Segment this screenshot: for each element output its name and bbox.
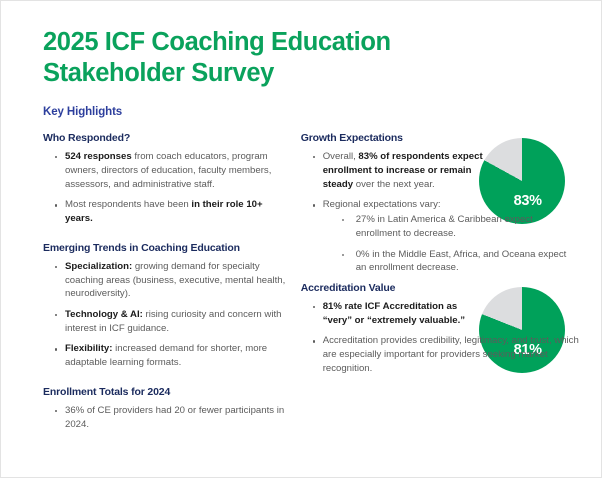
- bullet-text: Overall,: [323, 151, 359, 162]
- sub-bullet-text: 27% in Latin America & Caribbean expect …: [356, 214, 533, 239]
- left-column: Who Responded? 524 responses from coach …: [43, 132, 301, 438]
- section-heading-emerging-trends: Emerging Trends in Coaching Education: [43, 242, 289, 254]
- section-accreditation-value: 81% Accreditation Value 81% rate ICF Acc…: [301, 282, 579, 376]
- list-item: Accreditation provides credibility, legi…: [312, 334, 579, 375]
- bullet-list-enrollment-totals: 36% of CE providers had 20 or fewer part…: [43, 404, 289, 431]
- page-title-line-2: Stakeholder Survey: [43, 58, 561, 89]
- list-item: Overall, 83% of respondents expect enrol…: [312, 150, 484, 191]
- bullet-bold-lead: Specialization:: [65, 261, 132, 272]
- bullet-text: Accreditation provides credibility, legi…: [323, 335, 579, 373]
- sub-bullet-list-regional: 27% in Latin America & Caribbean expect …: [323, 213, 579, 275]
- section-emerging-trends: Emerging Trends in Coaching Education Sp…: [43, 242, 289, 370]
- section-heading-who-responded: Who Responded?: [43, 132, 289, 144]
- section-enrollment-totals: Enrollment Totals for 2024 36% of CE pro…: [43, 386, 289, 431]
- list-item: Technology & AI: rising curiosity and co…: [54, 308, 289, 335]
- bullet-bold-lead: Flexibility:: [65, 343, 112, 354]
- right-column: 83% Growth Expectations Overall, 83% of …: [301, 132, 579, 438]
- list-item: 81% rate ICF Accreditation as “very” or …: [312, 300, 484, 327]
- section-growth-expectations: 83% Growth Expectations Overall, 83% of …: [301, 132, 579, 275]
- bullet-bold-all: 81% rate ICF Accreditation as “very” or …: [323, 301, 465, 326]
- bullet-text: 36% of CE providers had 20 or fewer part…: [65, 405, 284, 430]
- bullet-text: Regional expectations vary:: [323, 199, 441, 210]
- header: 2025 ICF Coaching Education Stakeholder …: [1, 1, 601, 118]
- bullet-text-tail: over the next year.: [353, 179, 435, 190]
- list-item: 27% in Latin America & Caribbean expect …: [340, 213, 579, 240]
- section-heading-enrollment-totals: Enrollment Totals for 2024: [43, 386, 289, 398]
- list-item: 0% in the Middle East, Africa, and Ocean…: [340, 248, 579, 275]
- content-columns: Who Responded? 524 responses from coach …: [1, 132, 601, 438]
- bullet-bold-lead: 524 responses: [65, 151, 132, 162]
- section-who-responded: Who Responded? 524 responses from coach …: [43, 132, 289, 226]
- sub-bullet-text: 0% in the Middle East, Africa, and Ocean…: [356, 249, 567, 274]
- list-item: 524 responses from coach educators, prog…: [54, 150, 289, 191]
- bullet-list-emerging-trends: Specialization: growing demand for speci…: [43, 260, 289, 370]
- bullet-list-who-responded: 524 responses from coach educators, prog…: [43, 150, 289, 226]
- page-title: 2025 ICF Coaching Education Stakeholder …: [43, 27, 561, 89]
- list-item: 36% of CE providers had 20 or fewer part…: [54, 404, 289, 431]
- list-item: Specialization: growing demand for speci…: [54, 260, 289, 301]
- bullet-bold-lead: Technology & AI:: [65, 309, 143, 320]
- infographic-page: 2025 ICF Coaching Education Stakeholder …: [0, 0, 602, 478]
- list-item: Flexibility: increased demand for shorte…: [54, 342, 289, 369]
- page-title-line-1: 2025 ICF Coaching Education: [43, 27, 561, 58]
- list-item: Most respondents have been in their role…: [54, 198, 289, 225]
- subtitle-key-highlights: Key Highlights: [43, 106, 561, 118]
- bullet-text: Most respondents have been: [65, 199, 191, 210]
- list-item: Regional expectations vary: 27% in Latin…: [312, 198, 579, 275]
